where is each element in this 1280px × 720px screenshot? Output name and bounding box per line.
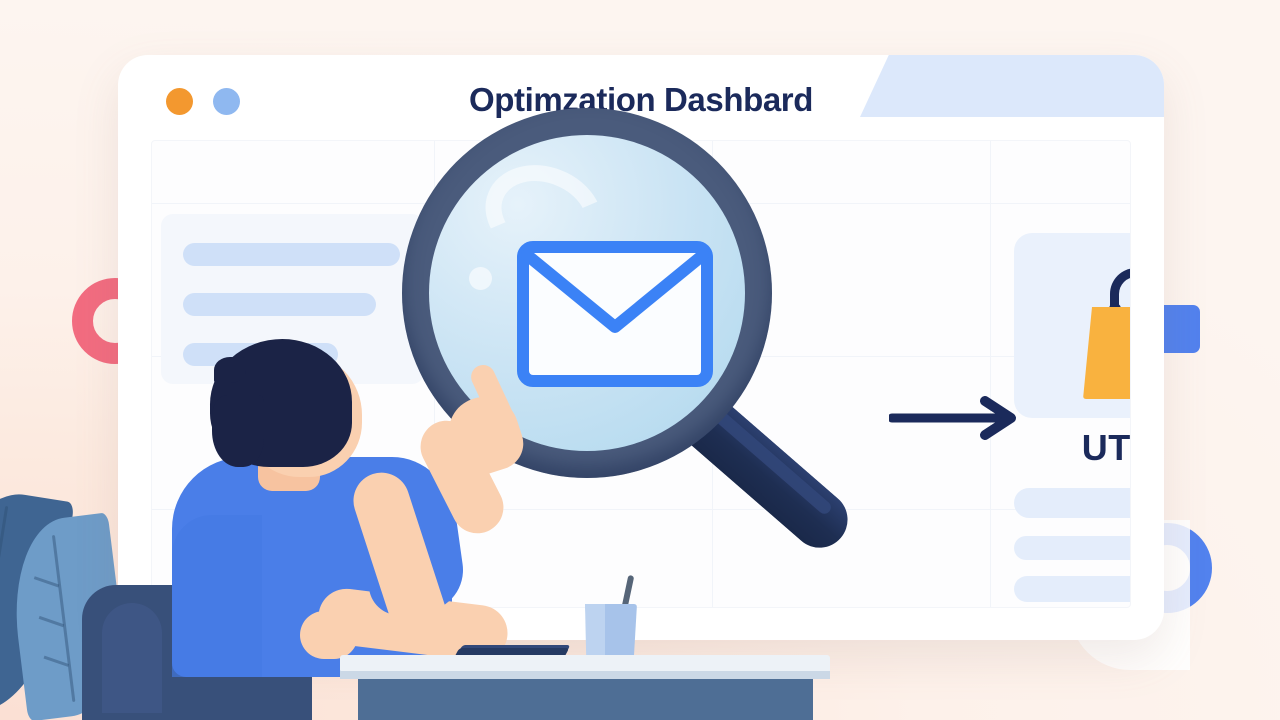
illustration-scene: Optimzation Dashbard [0, 0, 1280, 720]
skeleton-bar [1014, 488, 1131, 518]
skeleton-bar [183, 293, 376, 316]
skeleton-bar [1014, 576, 1131, 602]
person-illustration [150, 335, 580, 675]
desk [340, 655, 830, 720]
skeleton-bar [1014, 536, 1131, 560]
person-lower-hand [300, 611, 358, 659]
utm-label: UTM [1014, 427, 1131, 469]
right-skeleton-bars [1014, 488, 1131, 608]
skeleton-bar [183, 243, 400, 266]
shopping-bag-icon [1077, 259, 1131, 399]
